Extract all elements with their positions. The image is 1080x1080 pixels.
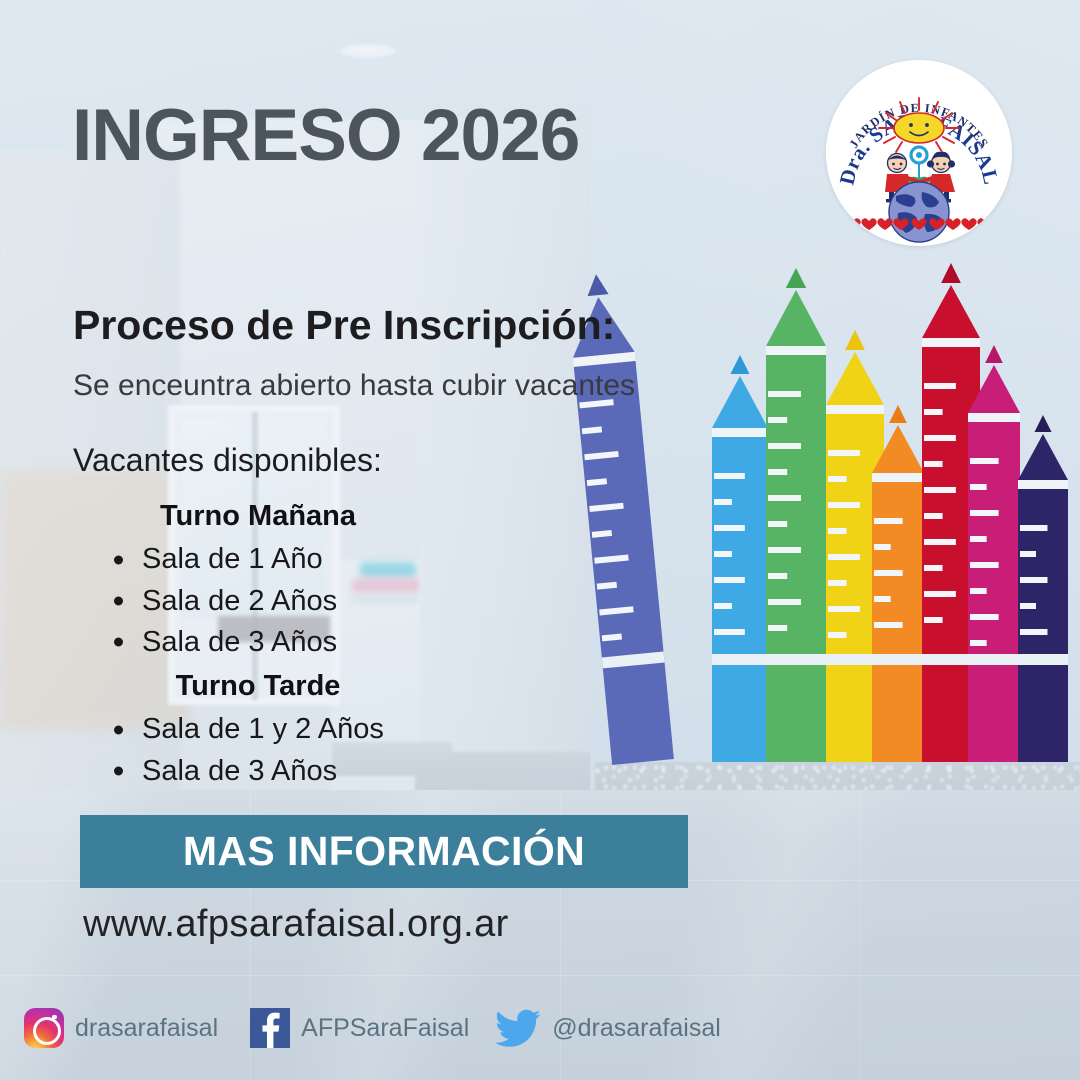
availability-note: Se enceuntra abierto hasta cubir vacante… — [73, 368, 635, 404]
bullet-icon — [114, 767, 123, 776]
pencil-ruler-tick — [828, 502, 860, 508]
twitter-handle: @drasarafaisal — [552, 1014, 721, 1043]
room-list-afternoon: Sala de 1 y 2 Años Sala de 3 Años — [100, 709, 520, 791]
pencil-ruler-tick — [768, 443, 801, 449]
pencil-collar — [712, 428, 768, 437]
pencil-ruler-tick — [970, 458, 999, 464]
pencil-collar — [922, 338, 980, 347]
bullet-icon — [114, 638, 123, 647]
pencil-ruler-tick — [828, 450, 860, 456]
pencil-ruler-tick — [768, 495, 801, 501]
dark-purple-pencil — [1018, 415, 1068, 762]
pencil-lower-band — [766, 654, 826, 665]
pencil-ruler-tick — [924, 383, 956, 389]
pencil-ruler-tick — [924, 461, 943, 467]
pencil-ruler-tick — [714, 499, 732, 505]
shift-title-morning: Turno Mañana — [100, 500, 416, 533]
subheading: Proceso de Pre Inscripción: — [73, 303, 615, 348]
pencil-ruler-tick — [970, 510, 999, 516]
pencil-ruler-tick — [924, 513, 943, 519]
pencil-ruler-tick — [924, 435, 956, 441]
list-item: Sala de 3 Años — [100, 751, 520, 792]
website-link[interactable]: www.afpsarafaisal.org.ar — [83, 903, 509, 946]
pencil-lower-band — [1018, 654, 1068, 665]
pencil-ruler-tick — [874, 570, 903, 576]
pencil-ruler-tick — [714, 629, 745, 635]
pencil-lower-band — [968, 654, 1020, 665]
pencil-tip — [1018, 434, 1068, 480]
pencil-ruler-tick — [828, 528, 847, 534]
more-information-label: MAS INFORMACIÓN — [183, 828, 585, 875]
room-label: Sala de 1 Año — [142, 543, 323, 575]
pencil-ruler-tick — [828, 476, 847, 482]
pencil-lower-band — [872, 654, 924, 665]
pencil-body — [766, 355, 826, 762]
pencil-ruler-tick — [924, 487, 956, 493]
bullet-icon — [114, 597, 123, 606]
pencil-ruler-tick — [924, 565, 943, 571]
pencil-ruler-tick — [828, 632, 847, 638]
pencil-ruler-tick — [1020, 551, 1036, 557]
light-blue-pencil — [712, 355, 768, 762]
pencil-nib — [786, 268, 806, 288]
pencil-collar — [766, 346, 826, 355]
pencil-tip — [922, 285, 980, 338]
pencil-tip — [766, 290, 826, 346]
pencil-nib — [1035, 415, 1052, 432]
pencil-tip — [712, 376, 768, 428]
room-label: Sala de 3 Años — [142, 755, 337, 787]
pencil-nib — [941, 263, 961, 283]
green-pencil — [766, 268, 826, 762]
list-item: Sala de 1 y 2 Años — [100, 709, 520, 750]
pencil-ruler-tick — [828, 580, 847, 586]
pencil-ruler-tick — [828, 554, 860, 560]
pencil-ruler-tick — [1020, 603, 1036, 609]
shift-block-morning: Turno Mañana Sala de 1 Año Sala de 2 Año… — [100, 500, 520, 663]
pencil-ruler-tick — [714, 551, 732, 557]
school-logo: JARDÍN DE INFANTES Dra. SARA FAISAL — [826, 60, 1012, 246]
pencil-nib — [889, 405, 907, 423]
list-item: Sala de 3 Años — [100, 622, 520, 663]
school-logo-artwork: JARDÍN DE INFANTES Dra. SARA FAISAL — [826, 60, 1012, 246]
list-item: Sala de 1 Año — [100, 539, 520, 580]
pencil-ruler-tick — [924, 591, 956, 597]
pencil-ruler-tick — [768, 417, 787, 423]
pencil-nib — [845, 330, 865, 350]
social-link-facebook[interactable]: AFPSaraFaisal — [250, 1008, 469, 1048]
facebook-handle: AFPSaraFaisal — [301, 1014, 469, 1043]
pencil-ruler-tick — [768, 521, 787, 527]
pencil-lower-band — [712, 654, 768, 665]
social-link-twitter[interactable]: @drasarafaisal — [495, 1008, 721, 1048]
shift-block-afternoon: Turno Tarde Sala de 1 y 2 Años Sala de 3… — [100, 670, 520, 792]
facebook-glyph — [250, 1008, 290, 1048]
pencil-ruler-tick — [874, 544, 891, 550]
pencil-ruler-tick — [1020, 629, 1048, 635]
pencil-nib — [730, 355, 749, 374]
pencil-ruler-tick — [970, 562, 999, 568]
pencil-collar — [872, 473, 924, 482]
pencil-ruler-tick — [828, 606, 860, 612]
pencil-ruler-tick — [970, 614, 999, 620]
pencil-ruler-tick — [970, 640, 987, 646]
pencil-ruler-tick — [714, 473, 745, 479]
vacancies-label: Vacantes disponibles: — [73, 441, 382, 479]
room-label: Sala de 1 y 2 Años — [142, 713, 384, 745]
pencil-ruler-tick — [970, 484, 987, 490]
shift-title-afternoon: Turno Tarde — [100, 670, 416, 703]
poster-canvas: JARDÍN DE INFANTES Dra. SARA FAISAL — [0, 0, 1080, 1080]
pencil-ruler-tick — [714, 525, 745, 531]
pencil-ruler-tick — [768, 573, 787, 579]
pencil-ruler-tick — [714, 577, 745, 583]
pencil-ruler-tick — [768, 599, 801, 605]
pencil-nib — [985, 345, 1003, 363]
twitter-icon[interactable] — [495, 1008, 541, 1048]
pencil-ruler-tick — [924, 617, 943, 623]
globe-icon — [889, 182, 949, 242]
facebook-icon[interactable] — [250, 1008, 290, 1048]
pencil-ruler-tick — [1020, 525, 1048, 531]
more-information-button[interactable]: MAS INFORMACIÓN — [80, 815, 688, 888]
bullet-icon — [114, 725, 123, 734]
magenta-pencil — [968, 345, 1020, 762]
pencil-ruler-tick — [874, 518, 903, 524]
twitter-bird-glyph — [495, 1008, 541, 1048]
pencil-collar — [826, 405, 884, 414]
pencil-ruler-tick — [714, 603, 732, 609]
instagram-icon[interactable] — [24, 1008, 64, 1048]
pencil-ruler-tick — [924, 539, 956, 545]
pencil-nib — [586, 273, 609, 296]
room-label: Sala de 2 Años — [142, 585, 337, 617]
pencil-collar — [1018, 480, 1068, 489]
pencil-ruler-tick — [874, 596, 891, 602]
pencil-body — [574, 361, 674, 765]
pencil-ruler-tick — [970, 536, 987, 542]
social-link-instagram[interactable]: drasarafaisal — [24, 1008, 218, 1048]
pencil-collar — [968, 413, 1020, 422]
pencil-ruler-tick — [768, 625, 787, 631]
pencil-body — [712, 437, 768, 762]
page-title: INGRESO 2026 — [72, 99, 579, 172]
bullet-icon — [114, 555, 123, 564]
instagram-handle: drasarafaisal — [75, 1014, 218, 1043]
room-list-morning: Sala de 1 Año Sala de 2 Años Sala de 3 A… — [100, 539, 520, 663]
list-item: Sala de 2 Años — [100, 581, 520, 622]
social-links-row: drasarafaisal AFPSaraFaisal @drasarafais… — [24, 1005, 721, 1051]
pencil-ruler-tick — [970, 588, 987, 594]
pencil-ruler-tick — [924, 409, 943, 415]
pencil-ruler-tick — [768, 547, 801, 553]
pencil-ruler-tick — [768, 469, 787, 475]
room-label: Sala de 3 Años — [142, 626, 337, 658]
pencil-tip — [826, 352, 884, 405]
pencil-ruler-tick — [1020, 577, 1048, 583]
pencil-ruler-tick — [874, 622, 903, 628]
pencil-ruler-tick — [768, 391, 801, 397]
